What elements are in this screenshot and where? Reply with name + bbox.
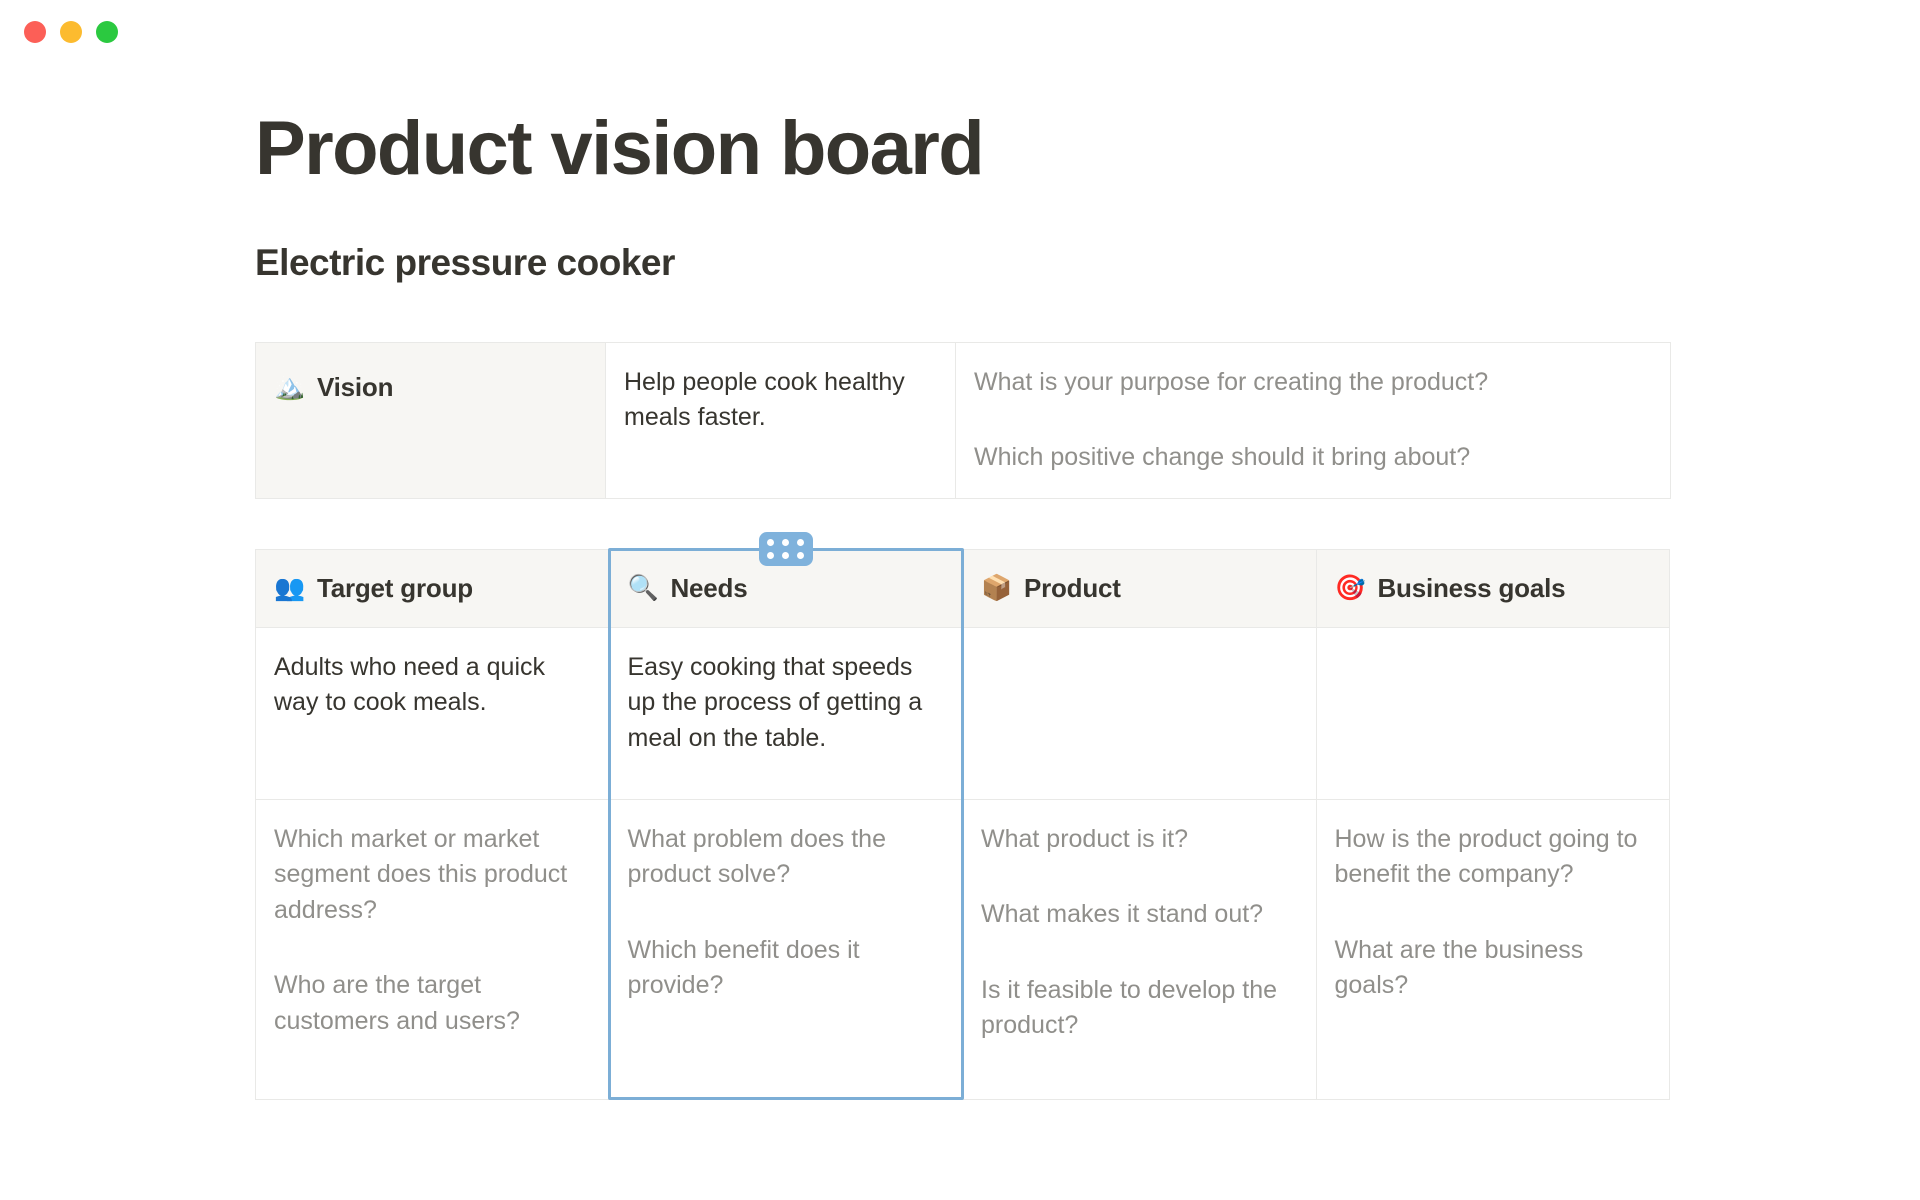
- maximize-window-button[interactable]: [96, 21, 118, 43]
- vision-value-cell[interactable]: Help people cook healthy meals faster.: [606, 342, 956, 498]
- vision-hint-1: What is your purpose for creating the pr…: [974, 365, 1652, 401]
- column-header-label: Business goals: [1377, 570, 1565, 607]
- minimize-window-button[interactable]: [60, 21, 82, 43]
- hint-text: What makes it stand out?: [981, 897, 1298, 933]
- hint-text: Who are the target customers and users?: [274, 968, 591, 1039]
- busts-in-silhouette-icon: 👥: [274, 576, 305, 601]
- close-window-button[interactable]: [24, 21, 46, 43]
- column-header-target-group[interactable]: 👥 Target group: [256, 549, 610, 627]
- hint-text: Which benefit does it provide?: [628, 933, 945, 1004]
- column-header-label: Product: [1024, 570, 1121, 607]
- main-table-wrapper: 👥 Target group 🔍 Needs 📦 Produc: [255, 549, 1675, 1100]
- cell-target-group-content[interactable]: Adults who need a quick way to cook meal…: [256, 627, 610, 799]
- table-row: 🏔️ Vision Help people cook healthy meals…: [256, 342, 1671, 498]
- cell-business-goals-content[interactable]: [1316, 627, 1670, 799]
- table-header-row: 👥 Target group 🔍 Needs 📦 Produc: [256, 549, 1670, 627]
- package-icon: 📦: [981, 576, 1012, 601]
- hint-text: What are the business goals?: [1335, 933, 1652, 1004]
- vision-hint-cell[interactable]: What is your purpose for creating the pr…: [956, 342, 1671, 498]
- table-row-hints: Which market or market segment does this…: [256, 799, 1670, 1099]
- cell-target-group-hints[interactable]: Which market or market segment does this…: [256, 799, 610, 1099]
- drag-handle-dot: [767, 552, 774, 559]
- drag-handle-dot: [797, 552, 804, 559]
- drag-handle-dot-row: [767, 539, 804, 546]
- traffic-light-buttons: [24, 21, 118, 43]
- magnifying-glass-icon: 🔍: [628, 576, 659, 601]
- hint-text: Which market or market segment does this…: [274, 822, 591, 929]
- hint-text: What product is it?: [981, 822, 1298, 858]
- document-body: Product vision board Electric pressure c…: [255, 0, 1675, 1100]
- vision-hint-2: Which positive change should it bring ab…: [974, 440, 1652, 476]
- column-header-business-goals[interactable]: 🎯 Business goals: [1316, 549, 1670, 627]
- column-header-label: Needs: [670, 570, 747, 607]
- cell-product-content[interactable]: [963, 627, 1317, 799]
- cell-needs-hints[interactable]: What problem does the product solve? Whi…: [609, 799, 963, 1099]
- cell-business-goals-hints[interactable]: How is the product going to benefit the …: [1316, 799, 1670, 1099]
- hint-text: Is it feasible to develop the product?: [981, 973, 1298, 1044]
- vision-table: 🏔️ Vision Help people cook healthy meals…: [255, 342, 1671, 499]
- drag-handle-dot: [782, 552, 789, 559]
- column-drag-handle[interactable]: [759, 532, 813, 566]
- column-header-label: Target group: [317, 570, 473, 607]
- page-title[interactable]: Product vision board: [255, 110, 1675, 188]
- drag-handle-dot: [782, 539, 789, 546]
- hint-text: What problem does the product solve?: [628, 822, 945, 893]
- column-header-product[interactable]: 📦 Product: [963, 549, 1317, 627]
- table-row-content: Adults who need a quick way to cook meal…: [256, 627, 1670, 799]
- product-vision-board-table: 👥 Target group 🔍 Needs 📦 Produc: [255, 549, 1670, 1100]
- vision-label-cell[interactable]: 🏔️ Vision: [256, 342, 606, 498]
- snow-capped-mountain-icon: 🏔️: [274, 375, 305, 400]
- drag-handle-dot: [767, 539, 774, 546]
- hint-text: How is the product going to benefit the …: [1335, 822, 1652, 893]
- drag-handle-dot-row: [767, 552, 804, 559]
- cell-needs-content[interactable]: Easy cooking that speeds up the process …: [609, 627, 963, 799]
- direct-hit-target-icon: 🎯: [1335, 576, 1366, 601]
- drag-handle-dot: [797, 539, 804, 546]
- vision-label-text: Vision: [317, 369, 393, 406]
- page-subtitle[interactable]: Electric pressure cooker: [255, 240, 1675, 286]
- cell-product-hints[interactable]: What product is it? What makes it stand …: [963, 799, 1317, 1099]
